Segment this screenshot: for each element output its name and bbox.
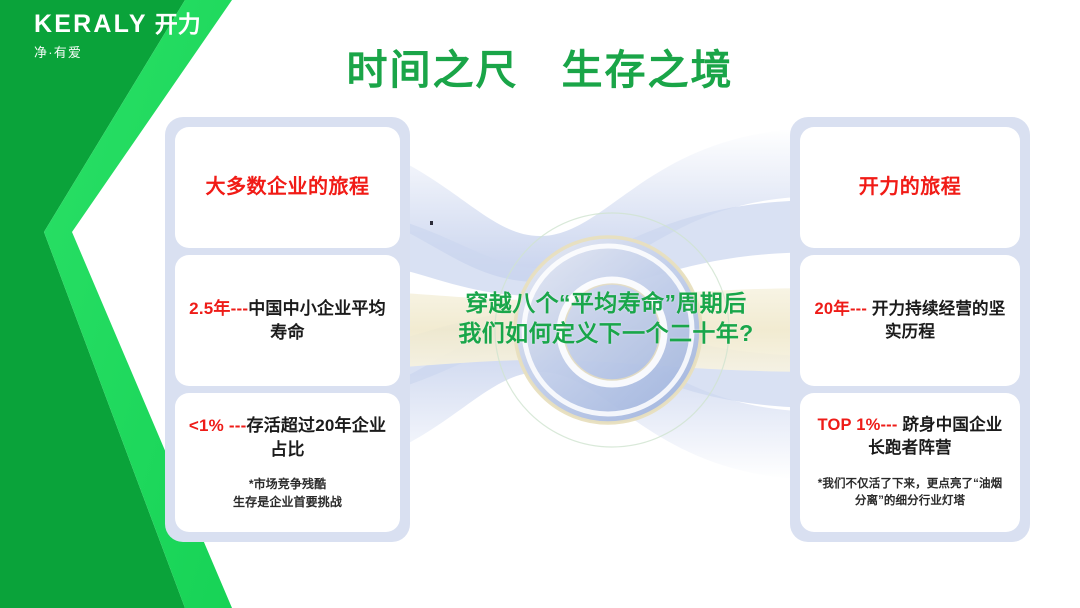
left-stat-highlight-2: <1% --- xyxy=(189,416,247,435)
left-card-avg-lifespan[interactable]: 2.5年---中国中小企业平均寿命 xyxy=(175,255,400,386)
brand-tagline: 净·有爱 xyxy=(34,46,201,59)
brand-logo: KERALY 开力 净·有爱 xyxy=(34,12,201,59)
left-card-stat-line-2: <1% ---存活超过20年企业占比 xyxy=(187,414,388,461)
right-card-heading-text: 开力的旅程 xyxy=(859,175,962,200)
right-journey-panel: 开力的旅程 20年--- 开力持续经营的坚实历程 TOP 1%--- 跻身中国企… xyxy=(790,117,1030,542)
right-card-stat-line: 20年--- 开力持续经营的坚实历程 xyxy=(812,298,1008,344)
right-card-years-operating[interactable]: 20年--- 开力持续经营的坚实历程 xyxy=(800,255,1020,386)
slide-canvas: KERALY 开力 净·有爱 时间之尺 生存之境 大多数企业的旅程 2.5年--… xyxy=(0,0,1080,608)
left-stat-highlight: 2.5年--- xyxy=(189,299,248,318)
right-stat-highlight-2: TOP 1%--- xyxy=(817,416,902,434)
center-headline: 穿越八个“平均寿命”周期后 我们如何定义下一个二十年? xyxy=(412,288,800,349)
brand-cjk-text: 开力 xyxy=(155,13,201,36)
right-card-note: *我们不仅活了下来，更点亮了“油烟分离”的细分行业灯塔 xyxy=(812,476,1008,511)
right-stat-highlight: 20年--- xyxy=(815,300,872,318)
left-card-note: *市场竞争残酷 生存是企业首要挑战 xyxy=(233,475,342,511)
left-card-survival-rate[interactable]: <1% ---存活超过20年企业占比 *市场竞争残酷 生存是企业首要挑战 xyxy=(175,393,400,532)
left-journey-panel: 大多数企业的旅程 2.5年---中国中小企业平均寿命 <1% ---存活超过20… xyxy=(165,117,410,542)
right-card-top-percentile[interactable]: TOP 1%--- 跻身中国企业长跑者阵营 *我们不仅活了下来，更点亮了“油烟分… xyxy=(800,393,1020,532)
left-card-heading[interactable]: 大多数企业的旅程 xyxy=(175,127,400,248)
left-stat-rest-2: 存活超过20年企业占比 xyxy=(246,416,386,458)
left-card-heading-text: 大多数企业的旅程 xyxy=(206,175,370,200)
right-stat-rest: 开力持续经营的坚实历程 xyxy=(872,300,1006,341)
brand-latin-text: KERALY xyxy=(34,12,148,37)
right-card-heading[interactable]: 开力的旅程 xyxy=(800,127,1020,248)
right-card-stat-line-2: TOP 1%--- 跻身中国企业长跑者阵营 xyxy=(812,414,1008,460)
stray-dot-artifact xyxy=(430,221,433,225)
left-stat-rest: 中国中小企业平均寿命 xyxy=(248,299,386,341)
left-card-stat-line: 2.5年---中国中小企业平均寿命 xyxy=(187,297,388,344)
brand-name: KERALY 开力 xyxy=(34,12,201,37)
